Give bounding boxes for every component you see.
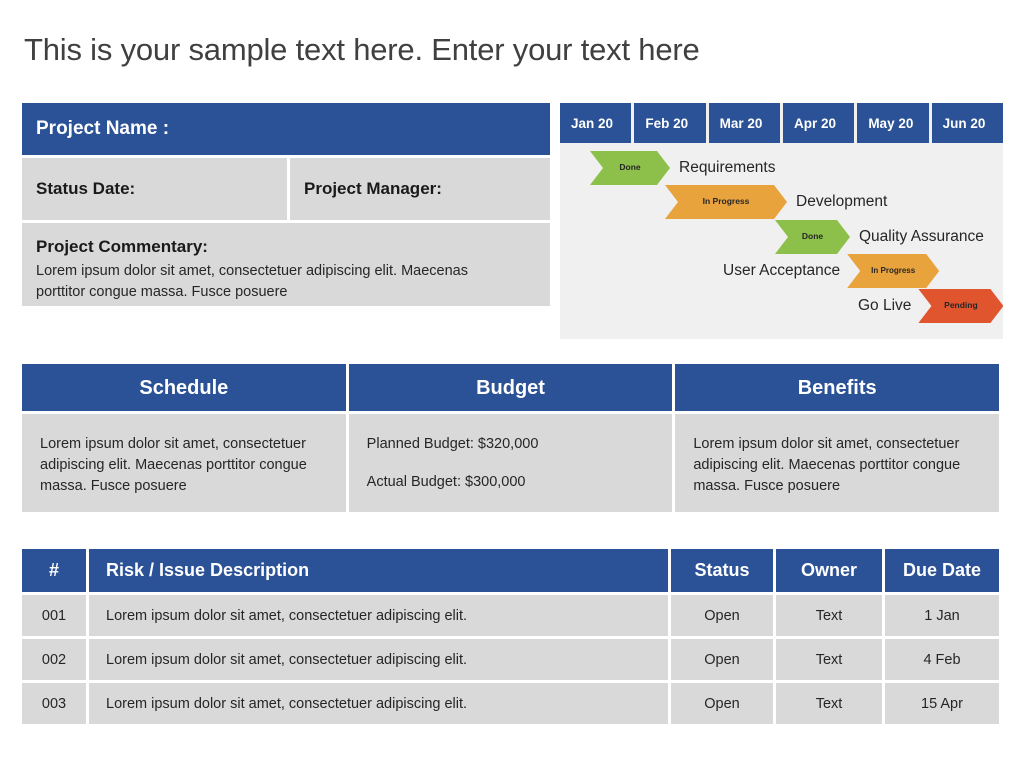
project-commentary-cell: Project Commentary: Lorem ipsum dolor si… <box>22 223 550 306</box>
milestone-status-chevron: Done <box>590 151 670 185</box>
timeline-month-header: Jan 20Feb 20Mar 20Apr 20May 20Jun 20 <box>560 103 1003 143</box>
milestone-status-chevron: In Progress <box>665 185 787 219</box>
milestone-row: DoneQuality Assurance <box>775 220 984 254</box>
timeline-month-2: Feb 20 <box>634 103 705 143</box>
risk-issue-table: # Risk / Issue Description Status Owner … <box>22 549 999 724</box>
risk-table-body: 001Lorem ipsum dolor sit amet, consectet… <box>22 595 999 724</box>
risk-cell-desc: Lorem ipsum dolor sit amet, consectetuer… <box>89 683 668 724</box>
risk-header-desc: Risk / Issue Description <box>89 549 668 592</box>
project-info-panel: Project Name : Status Date: Project Mana… <box>22 103 550 306</box>
kpi-column-schedule: ScheduleLorem ipsum dolor sit amet, cons… <box>22 364 346 512</box>
risk-cell-num: 002 <box>22 639 86 680</box>
milestone-label: Development <box>796 193 887 211</box>
risk-cell-owner: Text <box>776 683 882 724</box>
project-meta-row: Status Date: Project Manager: <box>22 158 550 220</box>
risk-cell-due: 4 Feb <box>885 639 999 680</box>
kpi-heading: Benefits <box>675 364 999 411</box>
risk-header-num: # <box>22 549 86 592</box>
kpi-column-benefits: BenefitsLorem ipsum dolor sit amet, cons… <box>675 364 999 512</box>
risk-cell-status: Open <box>671 683 773 724</box>
commentary-title: Project Commentary: <box>36 237 536 257</box>
commentary-text: Lorem ipsum dolor sit amet, consectetuer… <box>36 261 516 302</box>
page-title: This is your sample text here. Enter you… <box>24 32 700 68</box>
risk-table-header-row: # Risk / Issue Description Status Owner … <box>22 549 999 592</box>
timeline-month-1: Jan 20 <box>560 103 631 143</box>
kpi-column-budget: BudgetPlanned Budget: $320,000Actual Bud… <box>349 364 673 512</box>
milestone-row: User AcceptanceIn Progress <box>723 254 939 288</box>
kpi-body: Lorem ipsum dolor sit amet, consectetuer… <box>22 414 346 512</box>
table-row[interactable]: 001Lorem ipsum dolor sit amet, consectet… <box>22 595 999 636</box>
risk-cell-num: 003 <box>22 683 86 724</box>
risk-cell-status: Open <box>671 639 773 680</box>
risk-cell-status: Open <box>671 595 773 636</box>
status-date-cell: Status Date: <box>22 158 287 220</box>
risk-cell-owner: Text <box>776 595 882 636</box>
milestone-row: Go LivePending <box>858 289 1003 323</box>
risk-header-due: Due Date <box>885 549 999 592</box>
milestone-status-chevron: In Progress <box>847 254 939 288</box>
planned-budget-value: Planned Budget: $320,000 <box>367 434 655 455</box>
milestone-status-chevron: Pending <box>918 289 1003 323</box>
actual-budget-value: Actual Budget: $300,000 <box>367 472 655 493</box>
risk-header-status: Status <box>671 549 773 592</box>
risk-cell-desc: Lorem ipsum dolor sit amet, consectetuer… <box>89 639 668 680</box>
kpi-heading: Schedule <box>22 364 346 411</box>
milestone-row: In ProgressDevelopment <box>665 185 887 219</box>
risk-header-owner: Owner <box>776 549 882 592</box>
table-row[interactable]: 002Lorem ipsum dolor sit amet, consectet… <box>22 639 999 680</box>
risk-cell-due: 15 Apr <box>885 683 999 724</box>
risk-cell-desc: Lorem ipsum dolor sit amet, consectetuer… <box>89 595 668 636</box>
risk-cell-owner: Text <box>776 639 882 680</box>
risk-cell-due: 1 Jan <box>885 595 999 636</box>
timeline-month-5: May 20 <box>857 103 928 143</box>
milestone-label: Go Live <box>858 297 911 315</box>
milestone-label: Requirements <box>679 159 776 177</box>
project-manager-cell: Project Manager: <box>290 158 550 220</box>
kpi-section: ScheduleLorem ipsum dolor sit amet, cons… <box>22 364 999 512</box>
timeline-panel: Jan 20Feb 20Mar 20Apr 20May 20Jun 20 Don… <box>560 103 1003 339</box>
kpi-body: Planned Budget: $320,000Actual Budget: $… <box>349 414 673 512</box>
timeline-milestones: DoneRequirementsIn ProgressDevelopmentDo… <box>560 143 1003 339</box>
table-row[interactable]: 003Lorem ipsum dolor sit amet, consectet… <box>22 683 999 724</box>
milestone-status-chevron: Done <box>775 220 850 254</box>
timeline-month-3: Mar 20 <box>709 103 780 143</box>
milestone-row: DoneRequirements <box>590 151 776 185</box>
kpi-body: Lorem ipsum dolor sit amet, consectetuer… <box>675 414 999 512</box>
project-name-header: Project Name : <box>22 103 550 155</box>
kpi-heading: Budget <box>349 364 673 411</box>
risk-cell-num: 001 <box>22 595 86 636</box>
timeline-month-6: Jun 20 <box>932 103 1003 143</box>
milestone-label: Quality Assurance <box>859 228 984 246</box>
milestone-label: User Acceptance <box>723 262 840 280</box>
timeline-month-4: Apr 20 <box>783 103 854 143</box>
